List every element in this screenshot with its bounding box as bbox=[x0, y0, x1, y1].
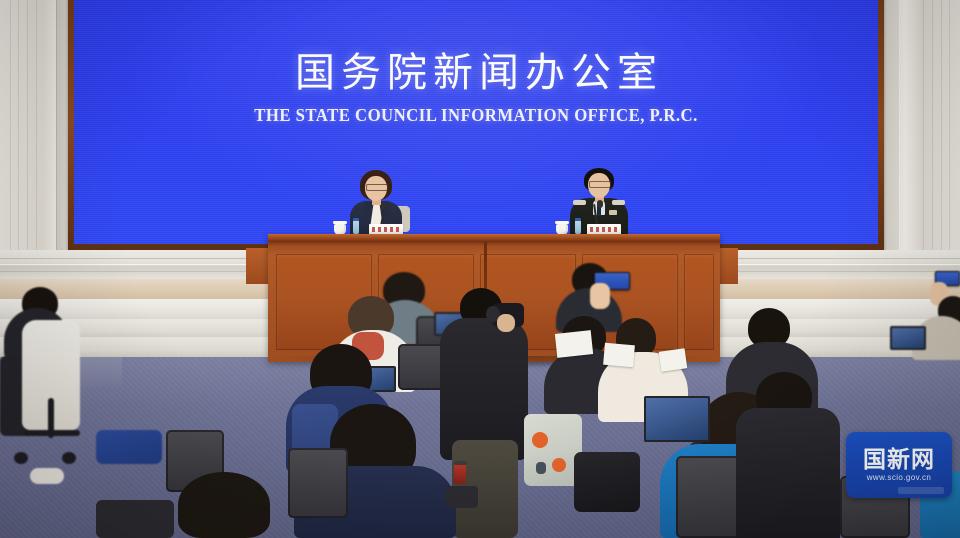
backpack-pattern bbox=[532, 432, 548, 448]
chair-caster bbox=[62, 452, 76, 464]
chair-back bbox=[96, 500, 174, 538]
black-backpack bbox=[574, 452, 640, 512]
microphone-head bbox=[381, 202, 387, 210]
shoe bbox=[30, 468, 64, 484]
screen-title-english: THE STATE COUNCIL INFORMATION OFFICE, P.… bbox=[102, 104, 850, 126]
conference-room: 国务院新闻办公室 THE STATE COUNCIL INFORMATION O… bbox=[0, 0, 960, 538]
tablet-arm bbox=[446, 486, 478, 508]
press-conference-photo: 国务院新闻办公室 THE STATE COUNCIL INFORMATION O… bbox=[0, 0, 960, 538]
bottle-cap bbox=[353, 218, 359, 221]
backpack-pattern bbox=[536, 462, 546, 474]
teacup-lid bbox=[555, 221, 569, 224]
chair-back bbox=[288, 448, 348, 518]
blue-duffel-bag bbox=[96, 430, 162, 464]
raised-arm bbox=[590, 283, 610, 309]
notepad bbox=[555, 330, 593, 358]
laptop bbox=[890, 326, 926, 350]
audience-shoulders bbox=[736, 408, 840, 538]
backpack-pattern bbox=[552, 458, 566, 472]
audience-head bbox=[178, 472, 270, 538]
chair-post bbox=[48, 398, 54, 438]
water-bottle bbox=[353, 220, 359, 234]
eyeglasses-icon bbox=[589, 181, 611, 188]
eyeglasses-icon bbox=[366, 184, 388, 191]
watermark-accent-bar bbox=[898, 487, 944, 494]
watermark-logo-text: 国新网 bbox=[846, 446, 952, 472]
paper-sheet bbox=[603, 343, 635, 368]
photographer-hand bbox=[497, 314, 515, 332]
uniform-badge bbox=[609, 210, 617, 215]
thermos-flask bbox=[454, 464, 466, 484]
scio-watermark: 国新网 www.scio.gov.cn bbox=[846, 432, 952, 498]
chair-caster bbox=[14, 452, 28, 464]
thermos-cap bbox=[454, 461, 467, 465]
led-backdrop-screen: 国务院新闻办公室 THE STATE COUNCIL INFORMATION O… bbox=[74, 0, 878, 244]
epaulette-left bbox=[573, 200, 586, 205]
epaulette-right bbox=[612, 200, 625, 205]
podium-wing-left bbox=[246, 248, 270, 284]
bottle-cap bbox=[575, 218, 581, 221]
microphone-head bbox=[597, 200, 603, 208]
watermark-url: www.scio.gov.cn bbox=[846, 473, 952, 483]
water-bottle bbox=[575, 220, 581, 234]
screen-title-chinese: 国务院新闻办公室 bbox=[74, 50, 878, 96]
paper-sheet bbox=[659, 348, 688, 371]
photographer-jacket bbox=[440, 318, 528, 460]
laptop bbox=[644, 396, 710, 442]
teacup-lid bbox=[333, 221, 347, 224]
